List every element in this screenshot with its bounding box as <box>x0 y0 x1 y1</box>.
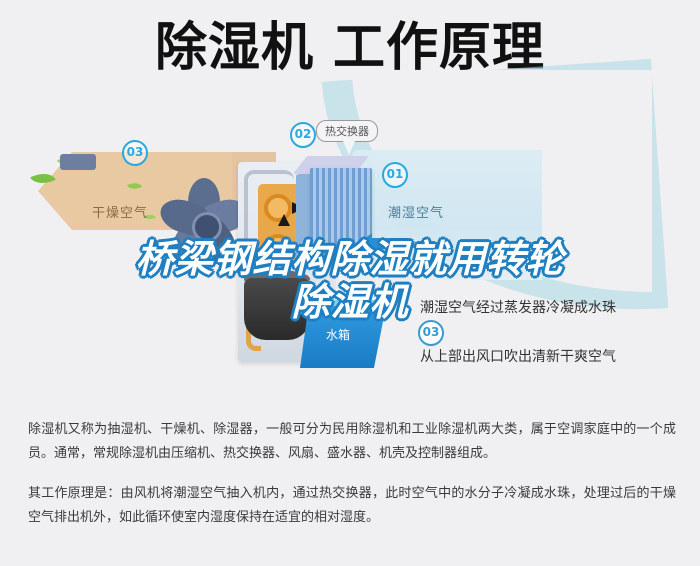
fan-shaft <box>60 154 96 170</box>
body-paragraph-2: 其工作原理是：由风机将潮湿空气抽入机内，通过热交换器，此时空气中的水分子冷凝成水… <box>28 482 676 530</box>
step-badge-02: 02 <box>290 122 316 148</box>
body-paragraph-1: 除湿机又称为抽湿机、干燥机、除湿器，一般可分为民用除湿机和工业除湿机两大类，属于… <box>28 418 676 466</box>
heat-exchanger-callout: 热交换器 <box>316 120 378 142</box>
fan-hub <box>192 212 222 242</box>
coil-ring <box>264 234 292 262</box>
step-badge-03-bottom: 03 <box>418 320 444 346</box>
step-badge-03: 03 <box>122 140 148 166</box>
step-badge-01: 01 <box>382 162 408 188</box>
compressor <box>244 278 310 340</box>
infographic-page: 除湿机 工作原理 干燥空气 潮湿空气 <box>0 0 700 566</box>
humid-air-label: 潮湿空气 <box>388 202 444 221</box>
step-text-02: 潮湿空气经过蒸发器冷凝成水珠 <box>420 297 616 317</box>
humid-air-panel <box>352 150 542 280</box>
page-title-text: 除湿机 工作原理 <box>155 22 545 74</box>
humid-air-inlet-arrow-icon <box>372 238 408 249</box>
airflow-arrow-up-icon <box>278 214 290 226</box>
dry-air-label: 干燥空气 <box>92 202 148 221</box>
step-text-03: 从上部出风口吹出清新干爽空气 <box>420 346 616 366</box>
water-tank-label: 水箱 <box>326 326 350 343</box>
body-copy: 除湿机又称为抽湿机、干燥机、除湿器，一般可分为民用除湿机和工业除湿机两大类，属于… <box>28 418 676 530</box>
